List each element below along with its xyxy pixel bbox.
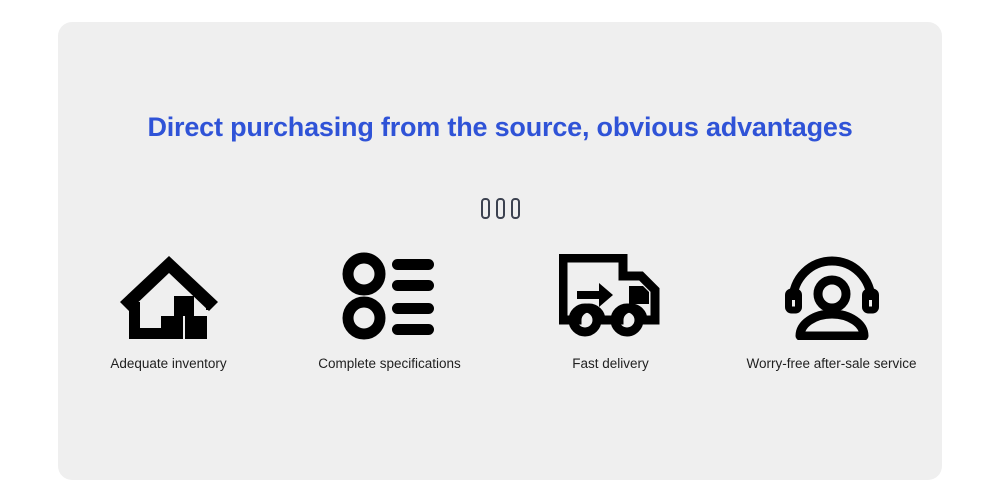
feature-item-after-sale-service: Worry-free after-sale service	[732, 248, 932, 371]
decorative-divider	[58, 198, 942, 219]
feature-label: Worry-free after-sale service	[746, 356, 916, 371]
feature-label: Adequate inventory	[110, 356, 226, 371]
feature-item-inventory: Adequate inventory	[69, 248, 269, 371]
feature-item-specifications: Complete specifications	[290, 248, 490, 371]
list-circles-bars-icon	[342, 248, 438, 344]
divider-pip-1	[481, 198, 490, 219]
feature-label: Complete specifications	[318, 356, 461, 371]
delivery-truck-arrow-icon	[559, 248, 663, 344]
warehouse-house-boxes-icon	[117, 248, 221, 344]
promo-banner-page: Direct purchasing from the source, obvio…	[0, 0, 1000, 499]
promo-card: Direct purchasing from the source, obvio…	[58, 22, 942, 480]
divider-pip-3	[511, 198, 520, 219]
headset-support-agent-icon	[783, 248, 881, 344]
feature-item-delivery: Fast delivery	[511, 248, 711, 371]
page-title: Direct purchasing from the source, obvio…	[58, 112, 942, 143]
feature-label: Fast delivery	[572, 356, 649, 371]
divider-pip-2	[496, 198, 505, 219]
feature-list: Adequate inventory	[58, 248, 942, 371]
